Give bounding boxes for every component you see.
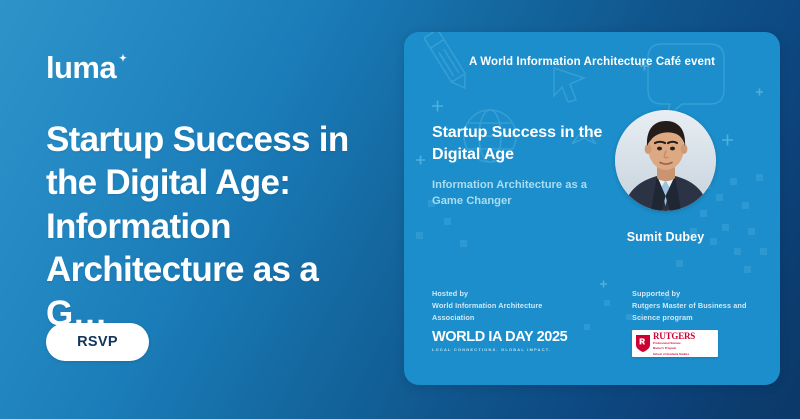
world-ia-day-tagline: LOCAL CONNECTIONS. GLOBAL IMPACT. bbox=[432, 348, 582, 352]
rutgers-sub-line-2: Master's Program bbox=[653, 347, 695, 351]
supported-by-name: Rutgers Master of Business and Science p… bbox=[632, 300, 772, 324]
poster-header-text: A World Information Architecture Café ev… bbox=[404, 54, 780, 71]
page-title: Startup Success in the Digital Age: Info… bbox=[46, 118, 376, 335]
supported-by-label: Supported by bbox=[632, 288, 772, 300]
luma-logo-text: luma bbox=[46, 52, 116, 83]
sparkle-icon bbox=[117, 53, 129, 65]
left-panel: luma Startup Success in the Digital Age:… bbox=[0, 0, 400, 419]
rutgers-shield-icon bbox=[636, 335, 650, 352]
poster-title: Startup Success in the Digital Age bbox=[432, 122, 628, 165]
world-ia-day-logo: WORLD IA DAY 2025 LOCAL CONNECTIONS. GLO… bbox=[432, 330, 582, 351]
hosted-by-label: Hosted by bbox=[432, 288, 582, 300]
hosted-by-name: World Information Architecture Associati… bbox=[432, 300, 582, 324]
event-banner: luma Startup Success in the Digital Age:… bbox=[0, 0, 800, 419]
rutgers-sub-line-1: Professional Science bbox=[653, 342, 695, 346]
supported-by-block: Supported by Rutgers Master of Business … bbox=[632, 288, 772, 357]
rutgers-sub-line-3: School of Graduate Studies bbox=[653, 353, 695, 357]
event-poster-card[interactable]: A World Information Architecture Café ev… bbox=[404, 32, 780, 385]
hosted-by-block: Hosted by World Information Architecture… bbox=[432, 288, 582, 352]
rsvp-button[interactable]: RSVP bbox=[46, 323, 149, 361]
world-ia-day-logo-text: WORLD IA DAY 2025 bbox=[432, 330, 582, 345]
luma-logo[interactable]: luma bbox=[46, 52, 129, 83]
rutgers-wordmark: RUTGERS bbox=[653, 332, 695, 341]
speaker-avatar bbox=[615, 110, 716, 211]
rutgers-logo: RUTGERS Professional Science Master's Pr… bbox=[632, 330, 718, 357]
poster-subtitle: Information Architecture as a Game Chang… bbox=[432, 177, 617, 209]
speaker-name: Sumit Dubey bbox=[590, 230, 741, 244]
